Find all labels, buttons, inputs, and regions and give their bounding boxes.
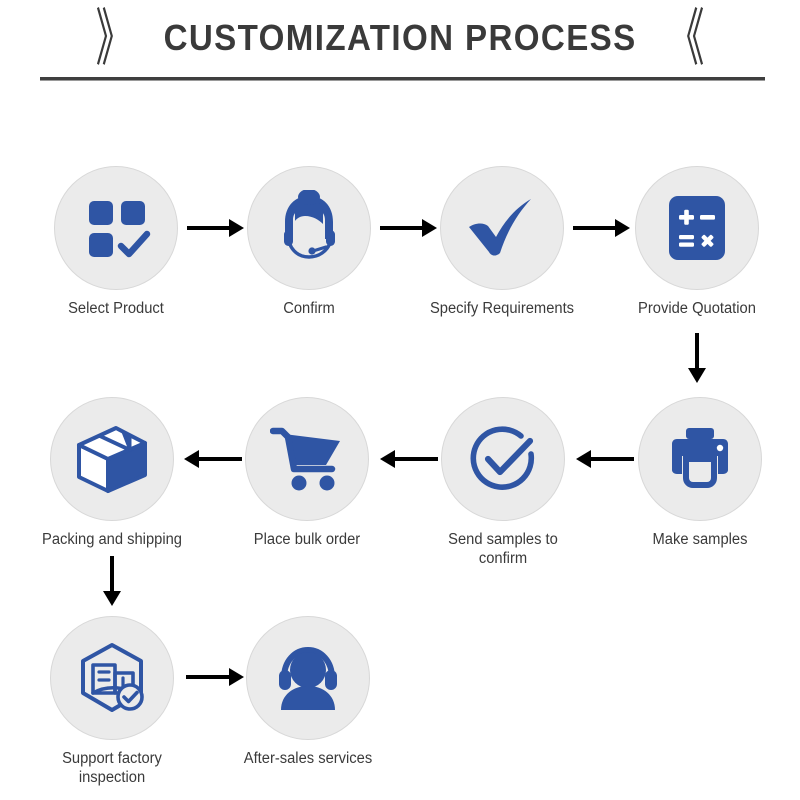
- step-icon-circle: [50, 616, 174, 740]
- step-label: Specify Requirements: [421, 299, 583, 318]
- step-label: Provide Quotation: [616, 299, 778, 318]
- step-label: Support factory inspection: [31, 749, 193, 788]
- headset-agent-icon: [271, 190, 347, 266]
- printer-icon: [664, 426, 736, 492]
- step-label: Select Product: [35, 299, 197, 318]
- step-icon-circle: [635, 166, 759, 290]
- step-icon-circle: [440, 166, 564, 290]
- calculator-icon: [666, 193, 728, 263]
- step-icon-circle: [247, 166, 371, 290]
- page-header: 》 CUSTOMIZATION PROCESS 《: [0, 0, 800, 90]
- factory-inspection-shield-icon: [75, 641, 149, 715]
- step-node-place-bulk-order[interactable]: Place bulk order: [222, 397, 392, 549]
- step-label: Packing and shipping: [31, 530, 193, 549]
- step-label: Send samples to confirm: [422, 530, 584, 569]
- step-icon-circle: [54, 166, 178, 290]
- step-icon-circle: [245, 397, 369, 521]
- step-label: After-sales services: [227, 749, 389, 768]
- step-node-confirm[interactable]: Confirm: [224, 166, 394, 318]
- step-node-select-product[interactable]: Select Product: [31, 166, 201, 318]
- arrow-quotation-to-samples: [687, 333, 707, 383]
- chevron-right-decoration: 《: [668, 7, 705, 69]
- package-box-icon: [74, 423, 150, 495]
- grid-squares-check-icon: [81, 193, 151, 263]
- header-divider: [40, 77, 765, 81]
- step-icon-circle: [638, 397, 762, 521]
- chevron-left-decoration: 》: [95, 7, 132, 69]
- step-node-support-factory-inspection[interactable]: Support factory inspection: [27, 616, 197, 788]
- support-person-headset-icon: [271, 644, 345, 712]
- step-node-specify-requirements[interactable]: Specify Requirements: [417, 166, 587, 318]
- step-label: Make samples: [619, 530, 781, 549]
- step-label: Place bulk order: [226, 530, 388, 549]
- circle-check-icon: [467, 423, 539, 495]
- step-icon-circle: [50, 397, 174, 521]
- step-node-after-sales-services[interactable]: After-sales services: [223, 616, 393, 768]
- arrow-packing-to-inspection: [102, 556, 122, 606]
- step-node-make-samples[interactable]: Make samples: [615, 397, 785, 549]
- step-icon-circle: [441, 397, 565, 521]
- shopping-cart-icon: [270, 425, 344, 493]
- step-node-send-samples-to-confirm[interactable]: Send samples to confirm: [418, 397, 588, 569]
- step-icon-circle: [246, 616, 370, 740]
- step-label: Confirm: [228, 299, 390, 318]
- step-node-packing-and-shipping[interactable]: Packing and shipping: [27, 397, 197, 549]
- step-node-provide-quotation[interactable]: Provide Quotation: [612, 166, 782, 318]
- page-title: CUSTOMIZATION PROCESS: [163, 17, 636, 59]
- title-row: 》 CUSTOMIZATION PROCESS 《: [0, 8, 800, 68]
- checkmark-icon: [465, 193, 539, 263]
